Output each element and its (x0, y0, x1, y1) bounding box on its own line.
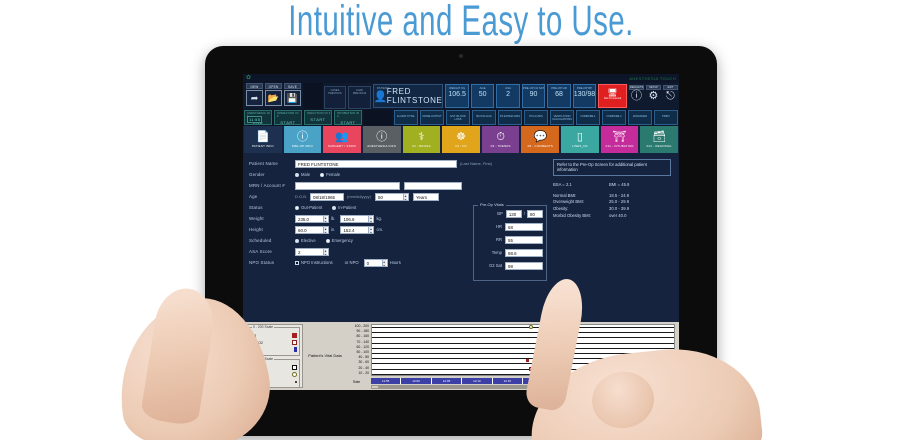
age-label: Age (249, 194, 295, 199)
npo-status-label: NPO Status (249, 260, 295, 265)
vitals-row-bp: BP 130 / 80 (474, 208, 546, 219)
power-icon: ⎋ (663, 90, 678, 102)
xtick-2[interactable]: 12:05 (432, 378, 462, 384)
stat-weight-label: WEIGHT KG (446, 85, 467, 90)
asa-score-spinner-icon[interactable]: ▲▼ (323, 249, 327, 256)
info-circle-icon: ⓘ (297, 132, 308, 143)
stat-age-value: 50 (472, 90, 493, 98)
scheduled-elective-label: Elective (301, 238, 316, 243)
tab-lines-dx[interactable]: ▯ LINES_DX (561, 126, 599, 153)
vitals-rr-input[interactable]: 55 (505, 236, 543, 244)
stat-preop-bp-label: PRE-OP BP (574, 85, 595, 90)
asa-score-label: ASA Score (249, 249, 295, 254)
height-in-value: 60.0 (298, 228, 307, 233)
chart-title: Patient's Vital Data (303, 324, 347, 388)
bmi-line: BMI = 45.9 (609, 182, 629, 187)
bmi-range-obesity-value: 30.0 - 39.9 (609, 206, 629, 213)
bmi-range-normal: Normal BMI: 18.5 - 24.9 (553, 193, 671, 200)
legend-item-hr[interactable]: HR (251, 332, 297, 339)
anesthesia-app: ✿ ANESTHESIA TOUCH NEW ➦ OPEN 📂 SAVE (243, 74, 679, 390)
vitals-row-rr: RR 55 (474, 234, 546, 245)
vitals-row-hr: HR 68 (474, 221, 546, 232)
monitor-disconnected-icon: 🖥 (599, 85, 626, 97)
cases-previous-button[interactable]: CASES PREVIOUS (324, 86, 347, 109)
preop-vitals-group: Pre-Op Vitals BP 130 / 80 HR 68 RR 55 (473, 205, 547, 281)
toolbar-spacer (303, 83, 323, 109)
lungs-icon: ⛩ (613, 132, 627, 143)
vitals-bp-systolic-input[interactable]: 130 (506, 210, 522, 218)
height-cm-value: 152.4 (343, 228, 354, 233)
cell-compare-2[interactable]: COMPARE 2 (602, 110, 626, 125)
status-radio-inpatient[interactable]: In-Patient (332, 205, 356, 210)
phase-operation[interactable]: OPERATION IN 2 START (274, 110, 302, 125)
phase-induction-label: INDUCTION IN 3 (305, 111, 331, 115)
bmi-range-overweight-label: Overweight BMI: (553, 199, 609, 206)
cell-compare-1[interactable]: COMPARE 1 (576, 110, 600, 125)
ytick-9: 10 - 20 (347, 371, 371, 376)
small-dot-black-icon (295, 381, 297, 383)
tablet-camera-icon (459, 54, 463, 58)
mrn-label: MRN / Account # (249, 183, 295, 188)
vitals-rr-label: RR (484, 237, 502, 242)
dob-label: D.O.B. (295, 194, 307, 199)
patient-name-hint: (Last Name, First) (460, 161, 492, 166)
weight-lb-input[interactable]: 235.0 ▲▼ (295, 215, 329, 223)
cell-print[interactable]: PRINT (654, 110, 678, 125)
tab-f4-io-label: F4 - I/O (455, 143, 466, 148)
form-row-asa: ASA Score 2 ▲▼ (249, 246, 673, 257)
vitals-row-temp: Temp 98.6 (474, 247, 546, 258)
phase-intubation-action: START (335, 118, 361, 125)
vitals-temp-input[interactable]: 98.6 (505, 249, 543, 257)
system-buttons: DEFAULTS ⓘ SETUP ⚙ EXIT ⎋ (628, 83, 679, 109)
cell-blood-gas[interactable]: BLOOD GAS (472, 110, 496, 125)
bsa-bmi-row: BSA = 2.1 BMI = 45.9 (553, 182, 671, 187)
line-icon: ▯ (577, 132, 583, 143)
bmi-range-morbid: Morbid Obesity BMI: over 40.0 (553, 213, 671, 220)
bmi-range-obesity: Obesity: 30.0 - 39.9 (553, 206, 671, 213)
preop-vitals-legend: Pre-Op Vitals (478, 202, 506, 207)
patient-banner-label: PATIENT (377, 86, 389, 90)
open-button-label: OPEN (265, 83, 282, 89)
height-cm-input[interactable]: 152.4 ▲▼ (340, 226, 374, 234)
preop-reference-note: Refer to the Pre-Op Screen for additiona… (553, 159, 671, 176)
radio-dot-emergency-icon (326, 239, 330, 243)
age-spinner-icon[interactable]: ▲▼ (403, 194, 407, 201)
save-button[interactable]: SAVE 💾 (284, 83, 301, 109)
wheel-icon: ☸ (456, 132, 466, 143)
tab-patient-info-label: PATIENT INFO (252, 143, 274, 148)
scheduled-label: Scheduled (249, 238, 295, 243)
bmi-info-panel: Refer to the Pre-Op Screen for additiona… (553, 159, 671, 219)
vitals-row-o2sat: O2 Sat 98 (474, 260, 546, 271)
weight-label: Weight (249, 216, 295, 221)
leaf-logo-icon: ✿ (246, 75, 253, 82)
phase-operation-label: OPERATION IN 2 (275, 111, 301, 118)
patient-info-form: Patient Name FRED FLINTSTONE (Last Name,… (243, 153, 679, 305)
dob-format-hint: (mm/dd/yyyy) (347, 194, 371, 199)
npo-hours-spinner-icon[interactable]: ▲▼ (382, 260, 386, 267)
stat-weight-value: 106.5 (446, 90, 467, 98)
defaults-button[interactable]: DEFAULTS ⓘ (629, 85, 644, 109)
regional-icon: 🗃 (652, 132, 666, 143)
status-radio-outpatient[interactable]: Out-Patient (295, 205, 322, 210)
weight-lb-spinner-icon[interactable]: ▲▼ (323, 216, 327, 223)
patient-name-input[interactable]: FRED FLINTSTONE (295, 160, 457, 168)
patient-name-value: FRED FLINTSTONE (387, 87, 443, 105)
phase-anesthesia-time: 11:55 (247, 116, 262, 123)
main-toolbar: NEW ➦ OPEN 📂 SAVE 💾 CASES PREVIOUS LOAD … (243, 83, 679, 109)
cell-fluids-total[interactable]: FLUIDS TOTAL (394, 110, 418, 125)
tab-f6-trends-label: F6 - TRENDS (491, 143, 511, 148)
tab-anesthesia-info-label: ANESTHESIA INFO (367, 143, 396, 148)
scheduled-radio-emergency[interactable]: Emergency (326, 238, 353, 243)
npo-instructions-checkbox[interactable]: NPO Instructions (295, 260, 333, 265)
chart-x-axis-label: Rate (353, 380, 360, 384)
weight-kg-input[interactable]: 106.6 ▲▼ (340, 215, 374, 223)
status-label: Status (249, 205, 295, 210)
phase-blank (364, 110, 392, 125)
weight-kg-spinner-icon[interactable]: ▲▼ (368, 216, 372, 223)
radio-dot-inpatient-icon (332, 206, 336, 210)
npo-hours-unit: Hours (390, 260, 401, 265)
asa-score-value: 2 (298, 250, 300, 255)
cell-advanced[interactable]: ADVANCED (628, 110, 652, 125)
bmi-range-overweight-value: 25.0 - 29.9 (609, 199, 629, 206)
comment-icon: 💬 (533, 132, 547, 143)
form-row-npo: NPO Status NPO Instructions or NPO 0 ▲▼ … (249, 257, 673, 268)
stat-weight[interactable]: WEIGHT KG 106.5 (445, 84, 468, 108)
mrn-input[interactable] (295, 182, 400, 190)
tab-f8-comments[interactable]: 💬 F8 - COMMENTS (521, 126, 559, 153)
circle-dot-olive-icon (292, 372, 297, 377)
stat-asa[interactable]: ASA 2 (496, 84, 519, 108)
age-input[interactable]: 50 ▲▼ (375, 193, 409, 201)
new-button[interactable]: NEW ➦ (246, 83, 263, 109)
stat-preop-hr-value: 68 (548, 90, 569, 98)
tab-f11-intubation-label: F11 - INTUBATION (606, 143, 634, 148)
tab-pre-op-info-label: PRE-OP INFO (292, 143, 313, 148)
radio-dot-female-icon (320, 173, 324, 177)
phase-toolbar: ANESTHESIA IN 1 END 11:55 OPERATION IN 2… (243, 109, 679, 126)
gender-radio-male[interactable]: Male (295, 172, 310, 177)
filled-square-red-icon (292, 333, 297, 338)
bmi-range-morbid-value: over 40.0 (609, 213, 626, 220)
datapoint-hr (526, 359, 529, 362)
tab-bar: 📄 PATIENT INFO ⓘ PRE-OP INFO 👥 SURGERY /… (243, 126, 679, 153)
tab-surgery-staff-label: SURGERY / STAFF (328, 143, 357, 148)
people-icon: 👥 (335, 132, 349, 143)
bsa-label: BSA = (553, 182, 565, 187)
age-unit-select[interactable]: Years (413, 193, 439, 201)
xtick-0[interactable]: 11:55 (371, 378, 401, 384)
xtick-1[interactable]: 12:00 (401, 378, 431, 384)
load-previous-button[interactable]: LOAD PREVIOUS (348, 86, 371, 109)
datapoint-o2sat (529, 325, 533, 329)
open-square-black-icon (292, 365, 297, 370)
form-row-scheduled: Scheduled Elective Emergency (249, 235, 673, 246)
stat-preop-hr-label: PRE-OP HR (548, 85, 569, 90)
scheduled-emergency-label: Emergency (332, 238, 353, 243)
bsa-value: 2.1 (566, 182, 572, 187)
stat-preop-bp[interactable]: PRE-OP BP 130/98 (573, 84, 596, 108)
npo-hours-input[interactable]: 0 ▲▼ (364, 259, 388, 267)
new-button-label: NEW (246, 83, 263, 89)
save-button-label: SAVE (284, 83, 301, 89)
save-disk-icon: 💾 (284, 90, 301, 106)
height-in-unit: in. (331, 227, 335, 232)
bmi-range-overweight: Overweight BMI: 25.0 - 29.9 (553, 199, 671, 206)
bmi-value: 45.9 (621, 182, 629, 187)
info-circle-icon: ⓘ (629, 90, 644, 102)
stat-preop-o2sat-value: 90 (523, 90, 544, 98)
tab-surgery-staff[interactable]: 👥 SURGERY / STAFF (323, 126, 361, 153)
tab-f11-intubation[interactable]: ⛩ F11 - INTUBATION (601, 126, 639, 153)
dob-input[interactable]: 08/18/1965 (310, 193, 344, 201)
filled-bar-blue-icon (294, 347, 297, 352)
form-row-height: Height 60.0 ▲▼ in. 152.4 ▲▼ cm. (249, 224, 673, 235)
page-headline: Intuitive and Easy to Use. (83, 0, 839, 46)
bmi-range-normal-label: Normal BMI: (553, 193, 609, 200)
height-in-input[interactable]: 60.0 ▲▼ (295, 226, 329, 234)
weight-lb-value: 235.0 (298, 217, 309, 222)
tab-anesthesia-info[interactable]: ⓘ ANESTHESIA INFO (363, 126, 401, 153)
tab-pre-op-info[interactable]: ⓘ PRE-OP INFO (284, 126, 322, 153)
not-connected-label: Not Connected (599, 97, 626, 100)
gear-icon: ⚙ (646, 90, 661, 102)
bmi-range-list: Normal BMI: 18.5 - 24.9 Overweight BMI: … (553, 193, 671, 219)
radio-dot-male-icon (295, 173, 299, 177)
checkbox-icon (295, 261, 299, 265)
cell-urine-output[interactable]: URINE OUTPUT (420, 110, 444, 125)
bmi-range-obesity-label: Obesity: (553, 206, 609, 213)
phase-intubation[interactable]: INTUBATION IN 4 START (334, 110, 362, 125)
age-value: 50 (378, 195, 383, 200)
person-icon: 👤 (374, 90, 387, 103)
chart-y-axis: 100 - 200 90 - 180 80 - 160 70 - 140 60 … (347, 324, 371, 376)
phase-operation-action: START (275, 118, 301, 125)
gender-female-label: Female (326, 172, 340, 177)
stat-preop-o2sat[interactable]: PRE-OP O2 SAT 90 (522, 84, 545, 108)
tab-f12-regional[interactable]: 🗃 F12 - REGIONAL (640, 126, 678, 153)
vitals-bp-diastolic-input[interactable]: 80 (527, 210, 543, 218)
vitals-bp-label: BP (485, 211, 503, 216)
height-label: Height (249, 227, 295, 232)
vitals-hr-label: HR (484, 224, 502, 229)
phase-induction-action: START (305, 115, 331, 122)
cell-ventilation-calculations[interactable]: VENTILATION CALCULATIONS (550, 110, 574, 125)
npo-or-label: or NPO (345, 260, 359, 265)
tab-f2-drugs-label: F2 - DRUGS (412, 143, 430, 148)
bmi-range-normal-value: 18.5 - 24.9 (609, 193, 629, 200)
tablet-screen: ✿ ANESTHESIA TOUCH NEW ➦ OPEN 📂 SAVE (243, 74, 679, 390)
exit-button[interactable]: EXIT ⎋ (663, 85, 678, 109)
asa-score-input[interactable]: 2 ▲▼ (295, 248, 329, 256)
stat-asa-value: 2 (497, 90, 518, 98)
not-connected-status[interactable]: 🖥 Not Connected (598, 84, 627, 108)
cell-ps-fluids[interactable]: PS FLUIDS (524, 110, 548, 125)
npo-instructions-label: NPO Instructions (301, 260, 333, 265)
xtick-4[interactable]: 12:15 (493, 378, 523, 384)
app-titlebar: ✿ ANESTHESIA TOUCH (243, 74, 679, 83)
open-button[interactable]: OPEN 📂 (265, 83, 282, 109)
weight-kg-value: 106.6 (343, 217, 354, 222)
radio-dot-elective-icon (295, 239, 299, 243)
stat-preop-o2sat-label: PRE-OP O2 SAT (523, 85, 544, 90)
cell-ps-enter-data[interactable]: PS ENTER DATA (498, 110, 522, 125)
account-input[interactable] (404, 182, 462, 190)
vitals-o2sat-input[interactable]: 98 (505, 262, 543, 270)
tab-f6-trends[interactable]: ⏱ F6 - TRENDS (482, 126, 520, 153)
radio-dot-outpatient-icon (295, 206, 299, 210)
patient-banner[interactable]: PATIENT 👤 FRED FLINTSTONE (373, 84, 444, 108)
gender-male-label: Male (301, 172, 310, 177)
gender-label: Gender (249, 172, 295, 177)
legend-group-200-caption: 0 - 200 Scale (252, 325, 274, 329)
gender-radio-female[interactable]: Female (320, 172, 340, 177)
height-cm-unit: cm. (376, 227, 383, 232)
tab-f8-comments-label: F8 - COMMENTS (528, 143, 553, 148)
open-square-red-icon (292, 340, 297, 345)
tab-f4-io[interactable]: ☸ F4 - I/O (442, 126, 480, 153)
height-cm-spinner-icon[interactable]: ▲▼ (368, 227, 372, 234)
id-card-icon: 📄 (256, 132, 270, 143)
status-inpatient-label: In-Patient (338, 205, 356, 210)
app-title: ANESTHESIA TOUCH (629, 76, 676, 81)
stat-preop-hr[interactable]: PRE-OP HR 68 (547, 84, 570, 108)
phase-induction[interactable]: INDUCTION IN 3 START (304, 110, 332, 125)
tab-f2-drugs[interactable]: ⚕ F2 - DRUGS (403, 126, 441, 153)
bmi-label: BMI = (609, 182, 620, 187)
bsa-line: BSA = 2.1 (553, 182, 609, 187)
vitals-bp-separator: / (524, 211, 525, 216)
tab-f12-regional-label: F12 - REGIONAL (647, 143, 672, 148)
stat-preop-bp-value: 130/98 (574, 90, 595, 98)
phase-anesthesia[interactable]: ANESTHESIA IN 1 END 11:55 (244, 110, 272, 125)
patient-name-label: Patient Name (249, 161, 295, 166)
setup-button[interactable]: SETUP ⚙ (646, 85, 661, 109)
vitals-o2sat-label: O2 Sat (484, 263, 502, 268)
height-in-spinner-icon[interactable]: ▲▼ (323, 227, 327, 234)
bmi-range-morbid-label: Morbid Obesity BMI: (553, 213, 609, 220)
file-operations-group: NEW ➦ OPEN 📂 SAVE 💾 (243, 83, 303, 109)
vitals-temp-label: Temp (484, 250, 502, 255)
phase-intubation-label: INTUBATION IN 4 (335, 111, 361, 118)
trend-clock-icon: ⏱ (496, 132, 505, 143)
caduceus-icon: ⚕ (418, 132, 424, 143)
new-document-icon: ➦ (246, 90, 263, 106)
stat-age[interactable]: AGE 50 (471, 84, 494, 108)
weight-kg-unit: kg. (376, 216, 382, 221)
cell-est-blood-loss[interactable]: EST. BLOOD LOSS (446, 110, 470, 125)
speech-bubble-icon: ⓘ (376, 132, 387, 143)
status-outpatient-label: Out-Patient (301, 205, 322, 210)
scheduled-radio-elective[interactable]: Elective (295, 238, 316, 243)
tab-lines-dx-label: LINES_DX (572, 143, 588, 148)
open-folder-icon: 📂 (265, 90, 282, 106)
tab-patient-info[interactable]: 📄 PATIENT INFO (244, 126, 282, 153)
vitals-hr-input[interactable]: 68 (505, 223, 543, 231)
weight-lb-unit: lb. (331, 216, 335, 221)
npo-hours-value: 0 (367, 261, 369, 266)
xtick-3[interactable]: 12:10 (462, 378, 492, 384)
